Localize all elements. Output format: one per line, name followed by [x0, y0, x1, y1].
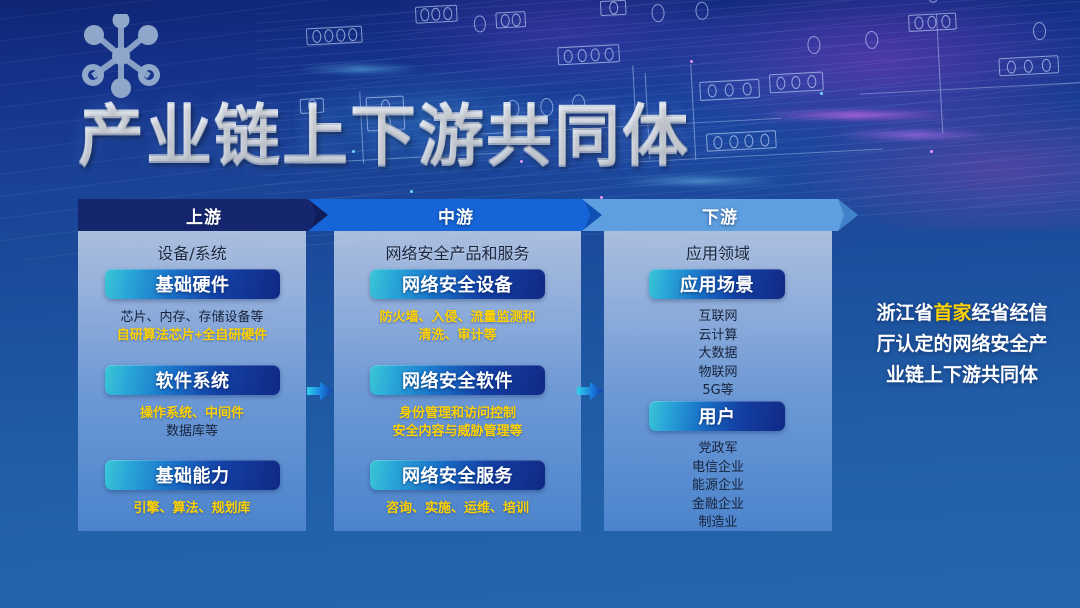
arrow-midstream-to-downstream	[577, 381, 603, 401]
desc-security-equipment: 防火墙、入侵、流量监测和 清洗、审计等	[334, 308, 581, 344]
pill-security-service[interactable]: 网络安全服务	[370, 460, 545, 490]
desc-basic-capability: 引擎、算法、规划库	[78, 499, 306, 517]
list-users: 党政军 电信企业 能源企业 金融企业 制造业	[604, 440, 832, 533]
list-application-scenarios: 互联网 云计算 大数据 物联网 5G等	[604, 308, 832, 401]
pill-application-scenario[interactable]: 应用场景	[649, 269, 785, 299]
chevron-label-upstream: 上游	[186, 203, 222, 228]
slide-canvas: 产业链上下游共同体 设备/系统 基础硬件 芯片、内存、存储设备等 自研算法芯片+…	[0, 0, 1080, 608]
caption-line2: 厅认定的网络安全产	[854, 329, 1070, 360]
desc-security-software: 身份管理和访问控制 安全内容与威胁管理等	[334, 404, 581, 440]
column-downstream: 应用领域 应用场景 互联网 云计算 大数据 物联网 5G等 用户 党政军 电信企…	[604, 231, 832, 531]
chevron-label-downstream: 下游	[702, 203, 738, 228]
column-midstream: 网络安全产品和服务 网络安全设备 防火墙、入侵、流量监测和 清洗、审计等 网络安…	[334, 231, 581, 531]
caption-line1-pre: 浙江省	[876, 302, 933, 324]
desc-security-service: 咨询、实施、运维、培训	[334, 499, 581, 517]
column-subtitle-downstream: 应用领域	[604, 240, 832, 264]
caption-line3: 业链上下游共同体	[854, 360, 1070, 391]
chevron-label-midstream: 中游	[438, 203, 474, 228]
arrow-upstream-to-midstream	[307, 381, 333, 401]
chevron-header-downstream[interactable]: 下游	[582, 199, 858, 231]
desc-basic-hardware: 芯片、内存、存储设备等 自研算法芯片+全自研硬件	[78, 308, 306, 344]
column-subtitle-upstream: 设备/系统	[78, 240, 306, 264]
column-subtitle-midstream: 网络安全产品和服务	[334, 240, 581, 264]
chevron-header-midstream[interactable]: 中游	[308, 199, 604, 231]
caption-line1-post: 经省经信	[972, 302, 1048, 324]
pill-basic-hardware[interactable]: 基础硬件	[105, 269, 280, 299]
pill-basic-capability[interactable]: 基础能力	[105, 460, 280, 490]
pill-users[interactable]: 用户	[649, 401, 785, 431]
chevron-header-upstream[interactable]: 上游	[78, 199, 330, 231]
pill-software-system[interactable]: 软件系统	[105, 365, 280, 395]
summary-caption: 浙江省首家经省经信 厅认定的网络安全产 业链上下游共同体	[854, 298, 1070, 391]
pill-security-software[interactable]: 网络安全软件	[370, 365, 545, 395]
caption-highlight: 首家	[933, 302, 971, 324]
pill-security-equipment[interactable]: 网络安全设备	[370, 269, 545, 299]
column-upstream: 设备/系统 基础硬件 芯片、内存、存储设备等 自研算法芯片+全自研硬件 软件系统…	[78, 231, 306, 531]
page-title: 产业链上下游共同体	[78, 82, 690, 178]
desc-software-system: 操作系统、中间件 数据库等	[78, 404, 306, 440]
